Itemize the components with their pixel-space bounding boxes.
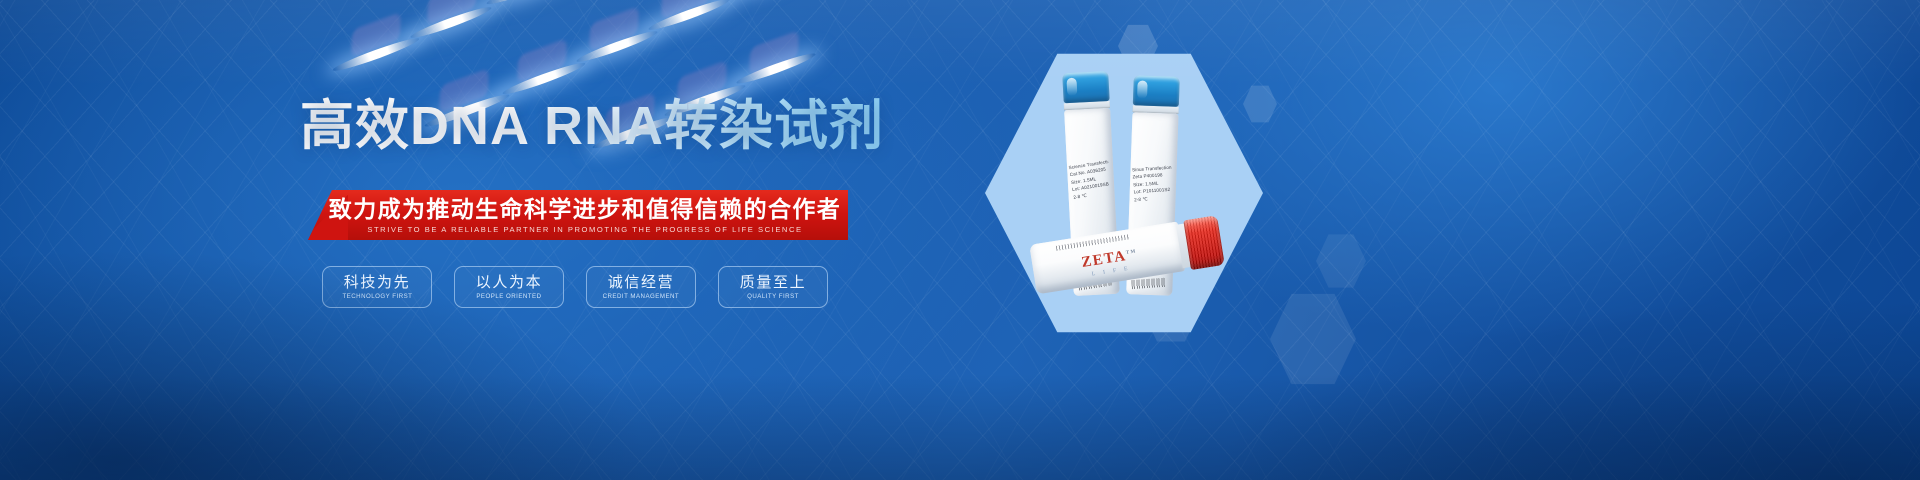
slogan-chinese: 致力成为推动生命科学进步和值得信赖的合作者 [329,196,841,222]
hexagon-decoration-4 [1270,290,1356,388]
slogan-english: STRIVE TO BE A RELIABLE PARTNER IN PROMO… [367,225,802,234]
product-image-vials: Science TransfectionCat.No. A036205Size:… [1010,70,1250,330]
slogan-ribbon: 致力成为推动生命科学进步和值得信赖的合作者 STRIVE TO BE A REL… [308,190,848,240]
value-badges: 科技为先 TECHNOLOGY FIRST 以人为本 PEOPLE ORIENT… [322,266,920,308]
vial-label-right: Sinus TransfectionZeta P400198Size: 1.5M… [1132,164,1174,204]
badge-label-cn: 科技为先 [344,274,410,291]
badge-label-en: QUALITY FIRST [747,293,799,300]
badge-label-cn: 质量至上 [740,274,806,291]
product-brand-logo: ZETATM L I F E [1069,243,1150,281]
vial-cap-blue-left [1062,71,1110,103]
background-mesh-pattern-secondary [0,0,1920,480]
badge-people-oriented[interactable]: 以人为本 PEOPLE ORIENTED [454,266,564,308]
badge-credit-management[interactable]: 诚信经营 CREDIT MANAGEMENT [586,266,696,308]
background-mesh-pattern [0,0,1920,480]
badge-label-cn: 以人为本 [476,274,542,291]
brand-trademark-symbol: TM [1126,249,1138,256]
promo-banner: Science TransfectionCat.No. A036205Size:… [0,0,1920,480]
vial-cap-red [1183,215,1224,270]
badge-quality-first[interactable]: 质量至上 QUALITY FIRST [718,266,828,308]
banner-headline: 高效DNA RNA转染试剂 [300,96,920,156]
badge-label-en: TECHNOLOGY FIRST [342,293,412,300]
vial-barcode-right [1131,278,1166,289]
badge-label-en: CREDIT MANAGEMENT [603,293,680,300]
hexagon-decoration-5 [1316,232,1366,290]
banner-text-block: 高效DNA RNA转染试剂 致力成为推动生命科学进步和值得信赖的合作者 STRI… [300,96,920,308]
slogan-ribbon-text: 致力成为推动生命科学进步和值得信赖的合作者 STRIVE TO BE A REL… [308,190,848,240]
badge-label-en: PEOPLE ORIENTED [476,293,541,300]
badge-label-cn: 诚信经营 [608,274,674,291]
background-vignette [0,0,1920,480]
badge-technology-first[interactable]: 科技为先 TECHNOLOGY FIRST [322,266,432,308]
vial-label-left: Science TransfectionCat.No. A036205Size:… [1068,158,1113,201]
vial-cap-blue-right [1133,75,1180,107]
